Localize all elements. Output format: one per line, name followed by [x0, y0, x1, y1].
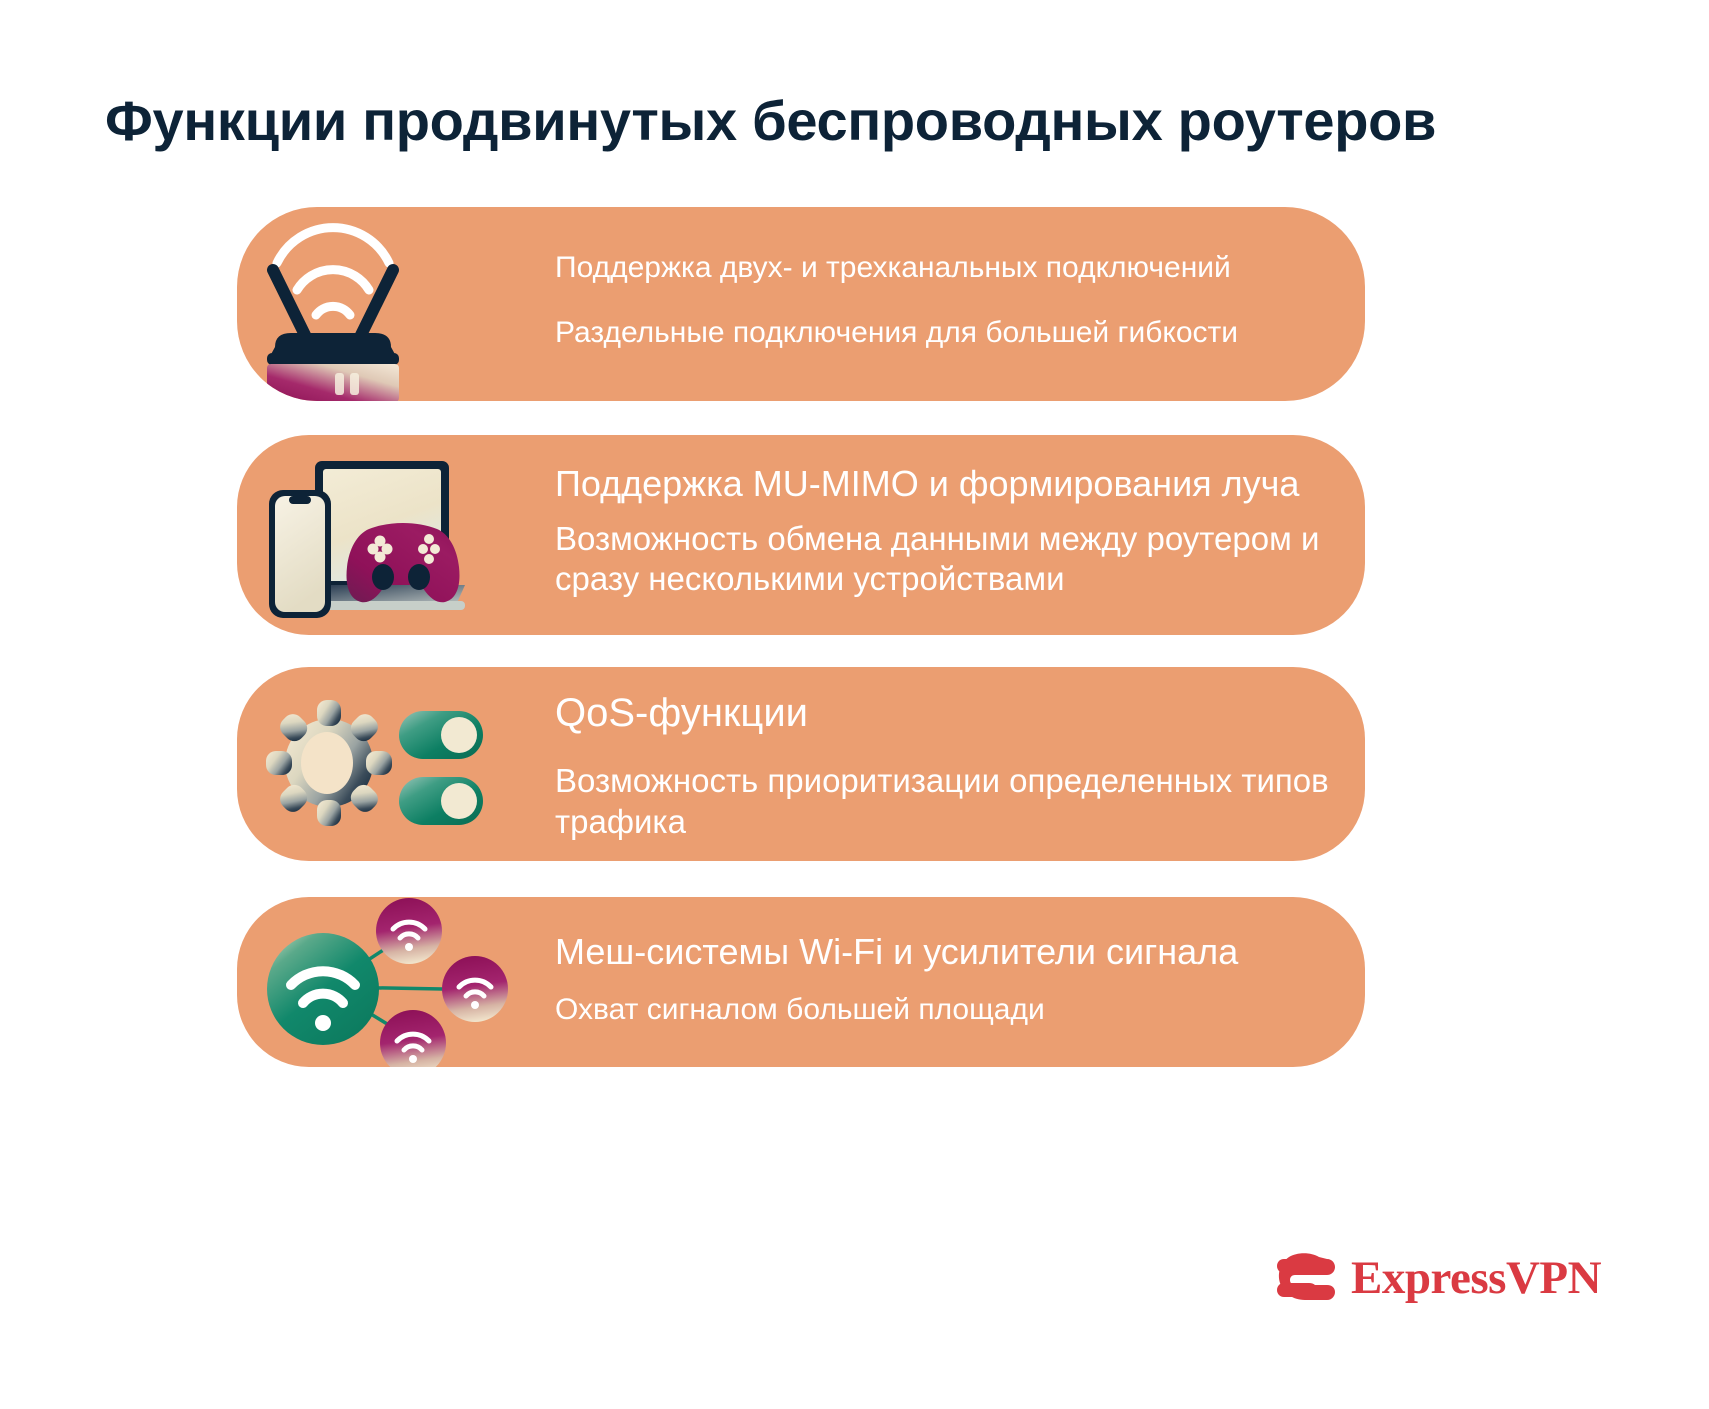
card-text-block: QoS-функции Возможность приоритизации оп…: [555, 667, 1335, 861]
mesh-node: [376, 898, 442, 964]
expressvpn-wordmark: ExpressVPN: [1351, 1255, 1601, 1302]
card-heading: Поддержка MU-MIMO и формирования луча: [555, 463, 1335, 505]
card-subtext: Раздельные подключения для большей гибко…: [555, 316, 1335, 350]
card-text-block: Поддержка MU-MIMO и формирования луча Во…: [555, 435, 1335, 635]
feature-card-mesh-wifi: Меш-системы Wi-Fi и усилители сигнала Ох…: [237, 897, 1365, 1067]
gear-toggles-icon: [237, 667, 537, 861]
page-title: Функции продвинутых беспроводных роутеро…: [105, 88, 1605, 153]
devices-icon: [237, 435, 537, 635]
router-icon: [237, 207, 537, 401]
feature-card-dual-tri-band: Поддержка двух- и трехканальных подключе…: [237, 207, 1365, 401]
card-heading: Меш-системы Wi-Fi и усилители сигнала: [555, 931, 1335, 973]
feature-card-mu-mimo: Поддержка MU-MIMO и формирования луча Во…: [237, 435, 1365, 635]
toggle-switch-2: [399, 777, 483, 825]
card-heading: Поддержка двух- и трехканальных подключе…: [555, 251, 1335, 285]
card-text-block: Меш-системы Wi-Fi и усилители сигнала Ох…: [555, 897, 1335, 1067]
toggle-switch-1: [399, 711, 483, 759]
expressvpn-e-mark-icon: [1275, 1250, 1337, 1306]
mesh-hub: [267, 933, 379, 1045]
card-subtext: Возможность приоритизации определенных т…: [555, 760, 1335, 843]
card-text-block: Поддержка двух- и трехканальных подключе…: [555, 207, 1335, 401]
mesh-network-icon: [237, 897, 537, 1067]
card-heading: QoS-функции: [555, 691, 1335, 736]
expressvpn-logo: ExpressVPN: [1275, 1250, 1601, 1306]
card-subtext: Охват сигналом большей площади: [555, 993, 1335, 1027]
mesh-node: [380, 1010, 446, 1067]
mesh-node: [442, 956, 508, 1022]
card-subtext: Возможность обмена данными между роутеро…: [555, 519, 1335, 600]
infographic-page: Функции продвинутых беспроводных роутеро…: [0, 0, 1709, 1409]
feature-card-qos: QoS-функции Возможность приоритизации оп…: [237, 667, 1365, 861]
